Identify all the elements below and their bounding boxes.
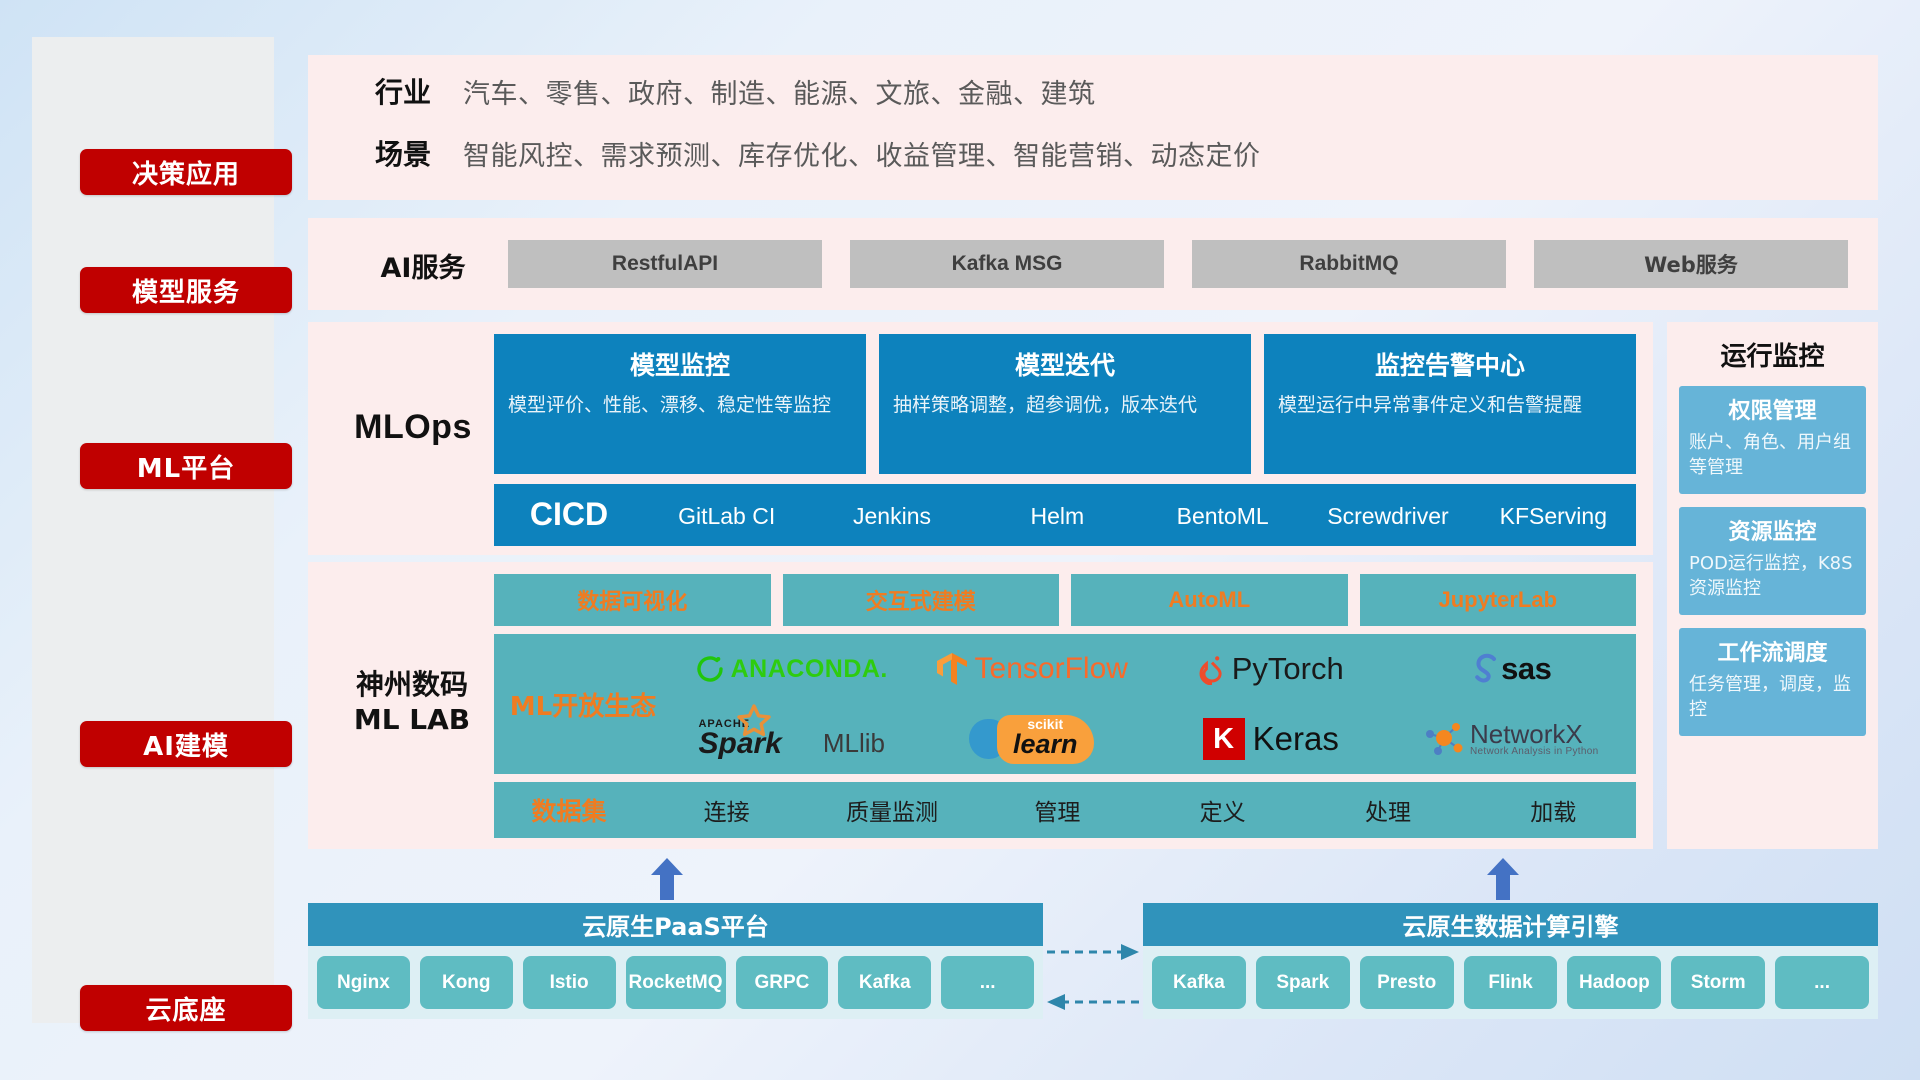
sas-wordmark: sas: [1501, 651, 1551, 687]
cloud-native-paas-title: 云原生PaaS平台: [308, 903, 1043, 946]
cloud-chip-istio[interactable]: Istio: [523, 956, 616, 1009]
dataset-bar: 数据集 连接 质量监测 管理 定义 处理 加载: [494, 782, 1636, 838]
keras-logo: K Keras: [1203, 718, 1339, 760]
networkx-graph-icon: [1422, 718, 1466, 760]
dataset-item-define[interactable]: 定义: [1140, 793, 1305, 827]
monitor-card-permission[interactable]: 权限管理 账户、角色、用户组等管理: [1679, 386, 1866, 494]
mlops-band: MLOps 模型监控 模型评价、性能、漂移、稳定性等监控 模型迭代 抽样策略调整…: [308, 322, 1653, 555]
cloud-native-paas-chip-row: Nginx Kong Istio RocketMQ GRPC Kafka ...: [308, 946, 1043, 1019]
mlops-card-title: 监控告警中心: [1278, 346, 1622, 382]
networkx-wordmark: NetworkX: [1470, 721, 1598, 747]
cicd-item-jenkins[interactable]: Jenkins: [809, 484, 974, 532]
ai-service-chip-kafka-msg[interactable]: Kafka MSG: [850, 240, 1164, 288]
monitor-card-title: 资源监控: [1689, 514, 1856, 546]
tensorflow-wordmark: TensorFlow: [975, 652, 1128, 686]
cicd-item-screwdriver[interactable]: Screwdriver: [1305, 484, 1470, 532]
compute-chip-more[interactable]: ...: [1775, 956, 1869, 1009]
mlops-card-alert-center[interactable]: 监控告警中心 模型运行中异常事件定义和告警提醒: [1264, 334, 1636, 474]
decision-application-band: 行业 汽车、零售、政府、制造、能源、文旅、金融、建筑 场景 智能风控、需求预测、…: [308, 55, 1878, 200]
cicd-item-kfserving[interactable]: KFServing: [1471, 484, 1636, 532]
ai-service-chip-restfulapi[interactable]: RestfulAPI: [508, 240, 822, 288]
cicd-title: CICD: [494, 484, 644, 533]
cloud-chip-kafka[interactable]: Kafka: [838, 956, 931, 1009]
dataset-title: 数据集: [494, 792, 644, 828]
keras-k-letter: K: [1213, 723, 1234, 756]
mlops-card-title: 模型迭代: [893, 346, 1237, 382]
compute-chip-hadoop[interactable]: Hadoop: [1567, 956, 1661, 1009]
bidirectional-arrows: [1043, 938, 1143, 1024]
cloud-native-compute-chip-row: Kafka Spark Presto Flink Hadoop Storm ..…: [1143, 946, 1878, 1019]
compute-chip-flink[interactable]: Flink: [1464, 956, 1558, 1009]
modeling-tool-row: 数据可视化 交互式建模 AutoML JupyterLab: [494, 574, 1636, 626]
dataset-item-quality-monitoring[interactable]: 质量监测: [809, 793, 974, 827]
pytorch-flame-icon: [1198, 653, 1226, 685]
keras-wordmark: Keras: [1253, 720, 1339, 758]
cicd-item-helm[interactable]: Helm: [975, 484, 1140, 532]
anaconda-ring-icon: [696, 654, 726, 684]
scenario-row: 场景 智能风控、需求预测、库存优化、收益管理、智能营销、动态定价: [343, 133, 1261, 173]
ai-service-label: AI服务: [363, 246, 483, 285]
diagram-canvas: 决策应用 模型服务 ML平台 AI建模 云底座 行业 汽车、零售、政府、制造、能…: [0, 0, 1920, 1080]
cicd-item-bentoml[interactable]: BentoML: [1140, 484, 1305, 532]
scenario-label: 场景: [343, 133, 463, 173]
ml-lab-label-line2: ML LAB: [322, 702, 502, 737]
mllib-wordmark: MLlib: [789, 728, 885, 759]
ml-lab-label-line1: 神州数码: [322, 667, 502, 702]
ai-service-chip-web-service[interactable]: Web服务: [1534, 240, 1848, 288]
cicd-item-gitlab-ci[interactable]: GitLab CI: [644, 484, 809, 532]
up-arrow-right: [1485, 858, 1521, 898]
runtime-monitoring-title: 运行监控: [1667, 322, 1878, 373]
ml-open-ecosystem-label: ML开放生态: [494, 686, 672, 723]
compute-chip-storm[interactable]: Storm: [1671, 956, 1765, 1009]
monitor-card-desc: 账户、角色、用户组等管理: [1689, 431, 1856, 481]
tensorflow-mark-icon: [935, 651, 969, 687]
compute-chip-spark[interactable]: Spark: [1256, 956, 1350, 1009]
scikit-learn-logo: scikit learn: [969, 715, 1094, 764]
rail-item-model-service[interactable]: 模型服务: [80, 267, 292, 313]
rail-item-decision[interactable]: 决策应用: [80, 149, 292, 195]
mlops-card-model-monitoring[interactable]: 模型监控 模型评价、性能、漂移、稳定性等监控: [494, 334, 866, 474]
dataset-item-connect[interactable]: 连接: [644, 793, 809, 827]
ml-lab-label: 神州数码 ML LAB: [322, 667, 502, 737]
anaconda-wordmark: ANACONDA.: [731, 655, 888, 684]
cloud-chip-grpc[interactable]: GRPC: [736, 956, 829, 1009]
spark-mllib-logo: APACHE Spark MLlib: [698, 719, 885, 759]
rail-item-ml-platform[interactable]: ML平台: [80, 443, 292, 489]
dataset-item-manage[interactable]: 管理: [975, 793, 1140, 827]
up-arrow-left: [649, 858, 685, 898]
industry-value: 汽车、零售、政府、制造、能源、文旅、金融、建筑: [463, 72, 1096, 111]
mlops-card-title: 模型监控: [508, 346, 852, 382]
tool-chip-interactive-modeling[interactable]: 交互式建模: [783, 574, 1060, 626]
ecosystem-logo-grid: ANACONDA. TensorFlow PyTorch: [672, 634, 1636, 774]
monitor-card-resource[interactable]: 资源监控 POD运行监控，K8S资源监控: [1679, 507, 1866, 615]
rail-item-ai-modeling[interactable]: AI建模: [80, 721, 292, 767]
anaconda-logo: ANACONDA.: [696, 654, 888, 684]
mlops-card-row: 模型监控 模型评价、性能、漂移、稳定性等监控 模型迭代 抽样策略调整，超参调优，…: [494, 334, 1636, 474]
layer-rail: 决策应用 模型服务 ML平台 AI建模 云底座: [32, 37, 274, 1023]
networkx-logo: NetworkX Network Analysis in Python: [1422, 718, 1598, 760]
networkx-tagline: Network Analysis in Python: [1470, 747, 1598, 757]
cloud-chip-rocketmq[interactable]: RocketMQ: [626, 956, 726, 1009]
rail-item-cloud-base[interactable]: 云底座: [80, 985, 292, 1031]
compute-chip-kafka[interactable]: Kafka: [1152, 956, 1246, 1009]
cloud-chip-more[interactable]: ...: [941, 956, 1034, 1009]
industry-label: 行业: [343, 71, 463, 111]
cloud-chip-kong[interactable]: Kong: [420, 956, 513, 1009]
industry-row: 行业 汽车、零售、政府、制造、能源、文旅、金融、建筑: [343, 71, 1096, 111]
cloud-native-compute-title: 云原生数据计算引擎: [1143, 903, 1878, 946]
ml-open-ecosystem: ML开放生态 ANACONDA. TensorFlow: [494, 634, 1636, 774]
monitor-card-title: 权限管理: [1689, 393, 1856, 425]
spark-star-icon: [734, 703, 774, 743]
mlops-label: MLOps: [328, 408, 498, 447]
learn-text: learn: [1013, 731, 1078, 758]
monitor-card-desc: 任务管理，调度，监控: [1689, 673, 1856, 723]
scenario-value: 智能风控、需求预测、库存优化、收益管理、智能营销、动态定价: [463, 134, 1261, 173]
monitor-card-workflow[interactable]: 工作流调度 任务管理，调度，监控: [1679, 628, 1866, 736]
pytorch-logo: PyTorch: [1198, 651, 1344, 687]
tensorflow-logo: TensorFlow: [935, 651, 1128, 687]
mlops-card-desc: 抽样策略调整，超参调优，版本迭代: [893, 392, 1237, 419]
compute-chip-presto[interactable]: Presto: [1360, 956, 1454, 1009]
cicd-bar: CICD GitLab CI Jenkins Helm BentoML Scre…: [494, 484, 1636, 546]
ai-service-chip-row: RestfulAPI Kafka MSG RabbitMQ Web服务: [508, 240, 1848, 288]
sas-swirl-icon: [1469, 652, 1501, 686]
cloud-native-paas-block: 云原生PaaS平台 Nginx Kong Istio RocketMQ GRPC…: [308, 903, 1043, 1019]
mlops-card-desc: 模型运行中异常事件定义和告警提醒: [1278, 392, 1622, 419]
scikit-orange-blob-icon: scikit learn: [997, 715, 1094, 764]
tool-chip-data-visualization[interactable]: 数据可视化: [494, 574, 771, 626]
ai-service-band: AI服务 RestfulAPI Kafka MSG RabbitMQ Web服务: [308, 218, 1878, 310]
ai-modeling-band: 神州数码 ML LAB 数据可视化 交互式建模 AutoML JupyterLa…: [308, 562, 1653, 849]
tool-chip-automl[interactable]: AutoML: [1071, 574, 1348, 626]
sas-logo: sas: [1469, 651, 1551, 687]
pytorch-wordmark: PyTorch: [1232, 651, 1344, 687]
mlops-card-model-iteration[interactable]: 模型迭代 抽样策略调整，超参调优，版本迭代: [879, 334, 1251, 474]
tool-chip-jupyterlab[interactable]: JupyterLab: [1360, 574, 1637, 626]
monitor-card-title: 工作流调度: [1689, 635, 1856, 667]
cloud-native-compute-block: 云原生数据计算引擎 Kafka Spark Presto Flink Hadoo…: [1143, 903, 1878, 1019]
cloud-chip-nginx[interactable]: Nginx: [317, 956, 410, 1009]
runtime-monitoring-panel: 运行监控 权限管理 账户、角色、用户组等管理 资源监控 POD运行监控，K8S资…: [1667, 322, 1878, 849]
monitor-card-desc: POD运行监控，K8S资源监控: [1689, 552, 1856, 602]
ai-service-chip-rabbitmq[interactable]: RabbitMQ: [1192, 240, 1506, 288]
keras-mark-icon: K: [1203, 718, 1245, 760]
dataset-item-process[interactable]: 处理: [1305, 793, 1470, 827]
dataset-item-load[interactable]: 加载: [1471, 793, 1636, 827]
mlops-card-desc: 模型评价、性能、漂移、稳定性等监控: [508, 392, 852, 419]
